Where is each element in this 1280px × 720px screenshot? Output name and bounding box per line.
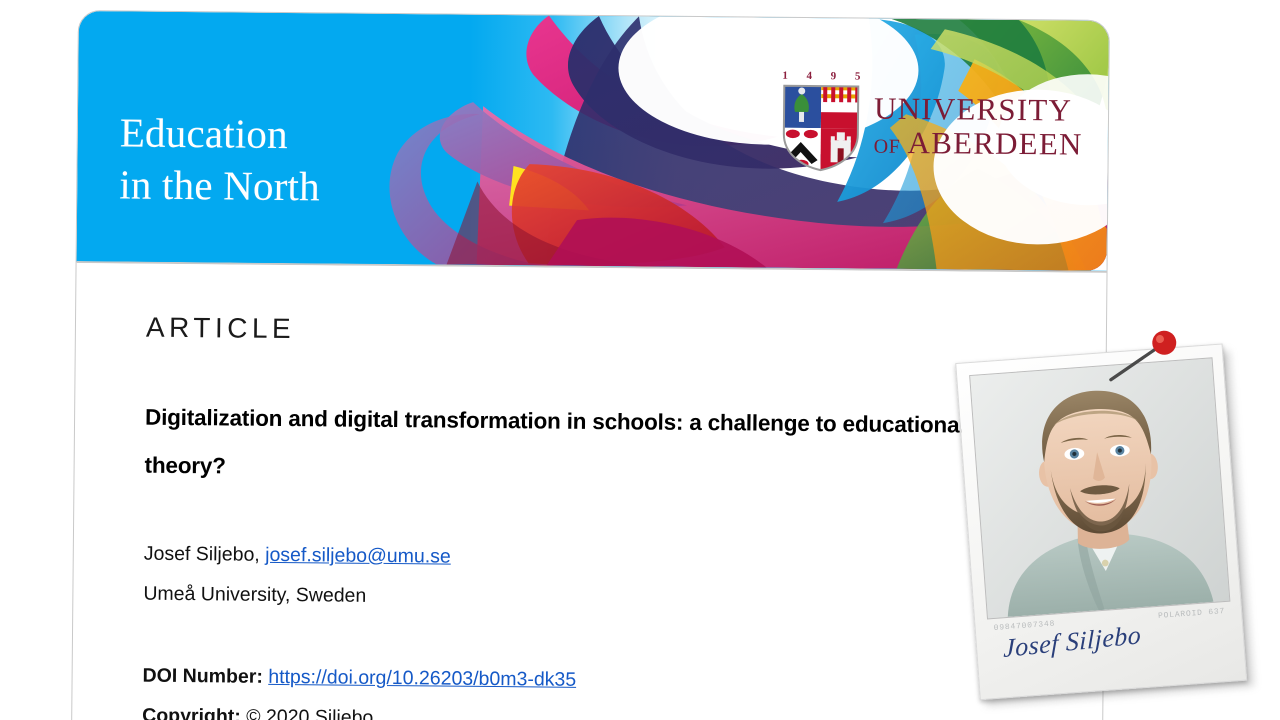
polaroid-frame: 09847007348 POLAROID 637 Josef Siljebo [955,343,1247,700]
university-logo: 1 4 9 5 [777,70,1083,175]
crest-year-digit-2: 4 [806,70,812,82]
author-name: Josef Siljebo, [144,543,266,566]
article-meta: DOI Number: https://doi.org/10.26203/b0m… [142,656,1043,720]
crest-wrap: 1 4 9 5 [777,70,864,173]
journal-banner: Education in the North 1 4 9 5 [77,11,1109,273]
university-wordmark: UNIVERSITY OF ABERDEEN [874,86,1083,159]
author-polaroid[interactable]: 09847007348 POLAROID 637 Josef Siljebo [955,342,1271,720]
copyright-value: © 2020 Siljebo [246,706,373,720]
portrait-illustration [970,358,1229,618]
copyright-label: Copyright: [142,705,246,720]
polaroid-caption: 09847007348 POLAROID 637 Josef Siljebo [987,602,1234,698]
wordmark-aberdeen: ABERDEEN [907,124,1082,161]
author-email-link[interactable]: josef.siljebo@umu.se [265,544,451,568]
article-title: Digitalization and digital transformatio… [144,394,975,498]
avatar [969,357,1230,619]
doi-label: DOI Number: [143,665,269,688]
journal-title: Education in the North [119,106,321,212]
crest-year-digit-1: 1 [782,70,788,82]
crest-year-digit-4: 5 [855,70,861,82]
wordmark-of: OF [874,135,901,157]
journal-article-page: Education in the North 1 4 9 5 [71,10,1110,720]
crest-year-digit-3: 9 [831,70,837,82]
doi-link[interactable]: https://doi.org/10.26203/b0m3-dk35 [268,666,576,691]
author-affiliation: Umeå University, Sweden [143,574,1043,623]
pushpin-icon [1103,324,1187,390]
aberdeen-crest-icon [781,84,860,173]
article-body: ARTICLE Digitalization and digital trans… [72,263,1106,720]
wordmark-line-1: UNIVERSITY [874,92,1083,125]
article-kicker: ARTICLE [146,312,1046,353]
screenshot-canvas: Education in the North 1 4 9 5 [0,0,1280,720]
crest-year: 1 4 9 5 [782,70,860,83]
wordmark-line-2: OF ABERDEEN [874,126,1083,159]
